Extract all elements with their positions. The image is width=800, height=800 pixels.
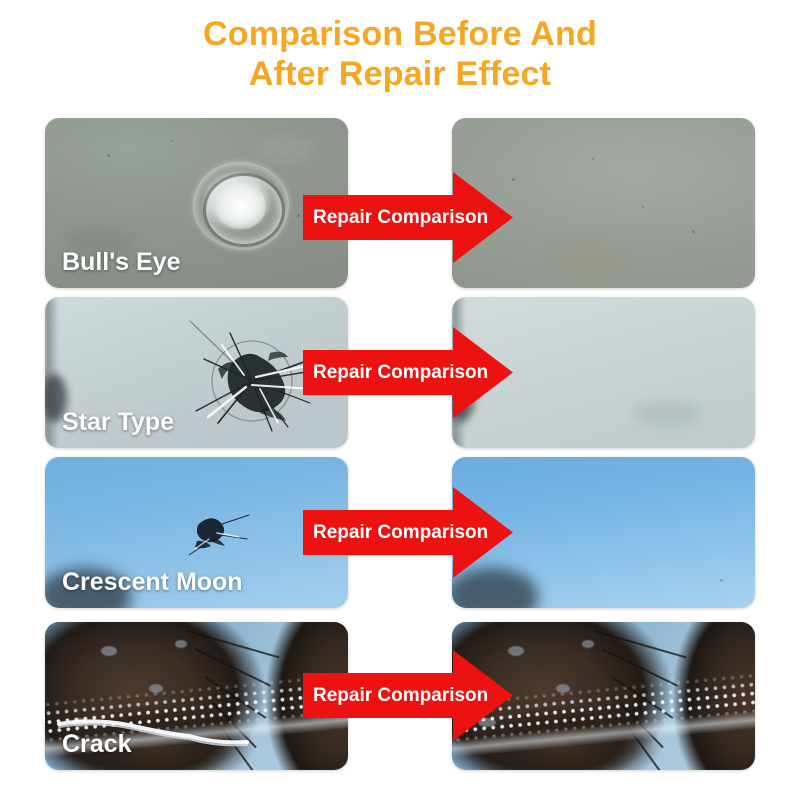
damage-type-label-crack: Crack: [62, 730, 132, 758]
glass-smudge: [648, 252, 708, 278]
comparison-row-star-type: Star Type Repair Comparison: [0, 297, 800, 448]
before-image-crescent-moon: Crescent Moon: [45, 457, 348, 608]
glass-speck: [642, 206, 644, 208]
glass-smudge: [548, 242, 628, 276]
bullseye-chip-damage: [193, 162, 289, 250]
glass-speck: [171, 140, 173, 142]
after-image-crescent-moon: [452, 457, 755, 608]
damage-type-label-bulls-eye: Bull's Eye: [62, 248, 181, 276]
comparison-row-crescent-moon: Crescent Moon Repair Comparison: [0, 457, 800, 608]
blurred-tree-silhouette: [452, 568, 538, 608]
windshield-surface-repaired: [452, 622, 755, 770]
before-image-bulls-eye: Bull's Eye: [45, 118, 348, 288]
glass-speck: [592, 158, 594, 160]
glass-smudge: [632, 401, 702, 427]
before-image-star-type: Star Type: [45, 297, 348, 448]
sky-speck: [720, 579, 723, 582]
comparison-row-crack: Crack: [0, 622, 800, 770]
star-break-damage: [160, 319, 348, 437]
glass-speck: [297, 214, 300, 217]
damage-type-label-crescent-moon: Crescent Moon: [62, 568, 243, 596]
comparison-rows: Bull's Eye Repair Comparison: [0, 0, 800, 800]
crescent-moon-chip-damage: [183, 513, 251, 559]
before-image-crack: Crack: [45, 622, 348, 770]
glass-edge-shadow: [452, 297, 465, 448]
glass-smudge: [255, 136, 315, 162]
star-crack-icon: [160, 319, 348, 437]
glass-edge-shadow: [45, 297, 58, 448]
glass-dirt: [175, 640, 187, 648]
glass-dirt: [101, 646, 117, 656]
glass-surface-repaired: [452, 297, 755, 448]
glass-speck: [512, 178, 515, 181]
comparison-row-bulls-eye: Bull's Eye Repair Comparison: [0, 118, 800, 288]
glass-surface-repaired: [452, 118, 755, 288]
after-image-star-type: [452, 297, 755, 448]
glass-dirt: [508, 646, 524, 656]
glass-dirt: [582, 640, 594, 648]
after-image-crack: [452, 622, 755, 770]
sky-surface-repaired: [452, 457, 755, 608]
crescent-chip-icon: [183, 513, 251, 559]
glass-speck: [107, 154, 110, 157]
after-image-bulls-eye: [452, 118, 755, 288]
glass-dark-blob: [452, 374, 474, 422]
glass-speck: [692, 230, 695, 233]
damage-type-label-star-type: Star Type: [62, 408, 174, 436]
